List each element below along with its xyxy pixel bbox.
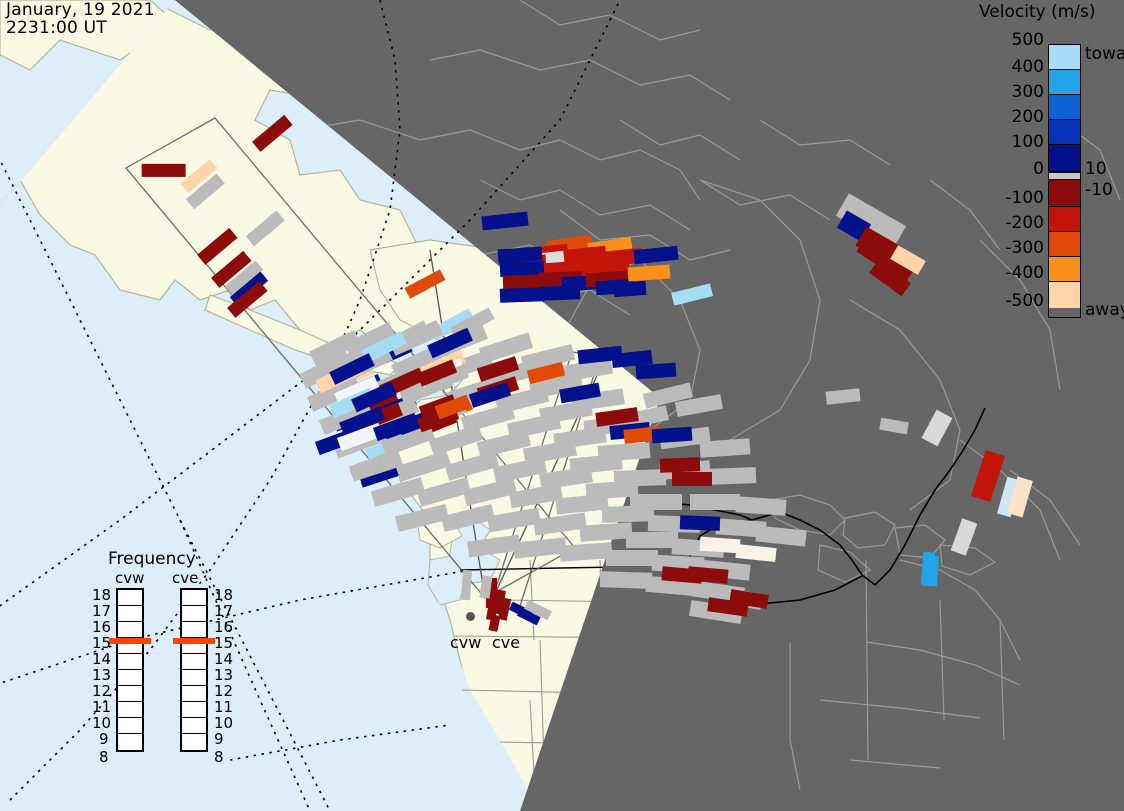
- colorbar-band-300: [1049, 95, 1080, 120]
- freq-seg: [118, 734, 142, 750]
- freq-seg: [118, 702, 142, 718]
- freq-seg: [182, 686, 206, 702]
- freq-tick-cvw-9: 9: [99, 730, 109, 748]
- freq-seg: [182, 622, 206, 638]
- colorbar-tick-100: 100: [988, 132, 1044, 152]
- radar-site-label-cvw: cvw: [450, 633, 481, 652]
- freq-seg: [118, 606, 142, 622]
- freq-seg: [182, 654, 206, 670]
- freq-seg: [118, 622, 142, 638]
- time-label: 2231:00 UT: [6, 19, 107, 38]
- colorbar-pos-threshold: 10: [1085, 159, 1107, 179]
- colorbar-band-100: [1049, 145, 1080, 172]
- colorbar-tick-n400: -400: [988, 263, 1044, 283]
- superdarn-velocity-map: January, 19 2021 2231:00 UT Velocity (m/…: [0, 0, 1124, 811]
- colorbar-tick-0: 0: [988, 159, 1044, 179]
- colorbar-band-n400: [1049, 257, 1080, 282]
- freq-seg: [182, 734, 206, 750]
- colorbar-tick-500: 500: [988, 30, 1044, 50]
- colorbar-band-zero: [1049, 172, 1080, 180]
- frequency-bar-cvw: [116, 588, 144, 752]
- colorbar-tick-n500: -500: [988, 291, 1044, 311]
- frequency-column-label-cve: cve: [172, 569, 198, 587]
- colorbar-band-n200: [1049, 207, 1080, 232]
- colorbar-tick-300: 300: [988, 82, 1044, 102]
- colorbar-band-n500: [1049, 282, 1080, 308]
- colorbar-tick-n200: -200: [988, 213, 1044, 233]
- colorbar-tick-n300: -300: [988, 238, 1044, 258]
- colorbar-neg-threshold: -10: [1085, 180, 1113, 200]
- freq-tick-cvw-8: 8: [99, 748, 109, 766]
- freq-seg: [118, 718, 142, 734]
- colorbar-band-200: [1049, 120, 1080, 145]
- frequency-column-label-cvw: cvw: [115, 569, 144, 587]
- frequency-title: Frequency: [108, 549, 196, 569]
- freq-seg: [182, 718, 206, 734]
- freq-seg: [118, 590, 142, 606]
- map-canvas: [0, 0, 1124, 811]
- colorbar-tick-200: 200: [988, 107, 1044, 127]
- freq-seg: [118, 654, 142, 670]
- colorbar-band-500: [1049, 45, 1080, 70]
- freq-seg: [118, 670, 142, 686]
- velocity-colorbar: [1048, 44, 1081, 318]
- colorbar-title: Velocity (m/s): [979, 2, 1096, 22]
- colorbar-away-label: away: [1085, 300, 1124, 320]
- freq-seg: [118, 686, 142, 702]
- radar-site-marker: [466, 612, 475, 621]
- freq-seg: [182, 702, 206, 718]
- colorbar-band-n300: [1049, 232, 1080, 257]
- freq-tick-cve-8: 8: [214, 748, 224, 766]
- freq-tick-cve-9: 9: [214, 730, 224, 748]
- frequency-bar-cve: [180, 588, 208, 752]
- freq-seg: [182, 606, 206, 622]
- colorbar-toward-label: toward: [1085, 44, 1124, 64]
- colorbar-tick-400: 400: [988, 57, 1044, 77]
- frequency-marker-cvw: [109, 638, 151, 644]
- colorbar-band-n100: [1049, 180, 1080, 207]
- freq-seg: [182, 590, 206, 606]
- freq-seg: [182, 670, 206, 686]
- colorbar-band-400: [1049, 70, 1080, 95]
- radar-site-label-cve: cve: [492, 633, 520, 652]
- frequency-marker-cve: [173, 638, 215, 644]
- colorbar-tick-n100: -100: [988, 188, 1044, 208]
